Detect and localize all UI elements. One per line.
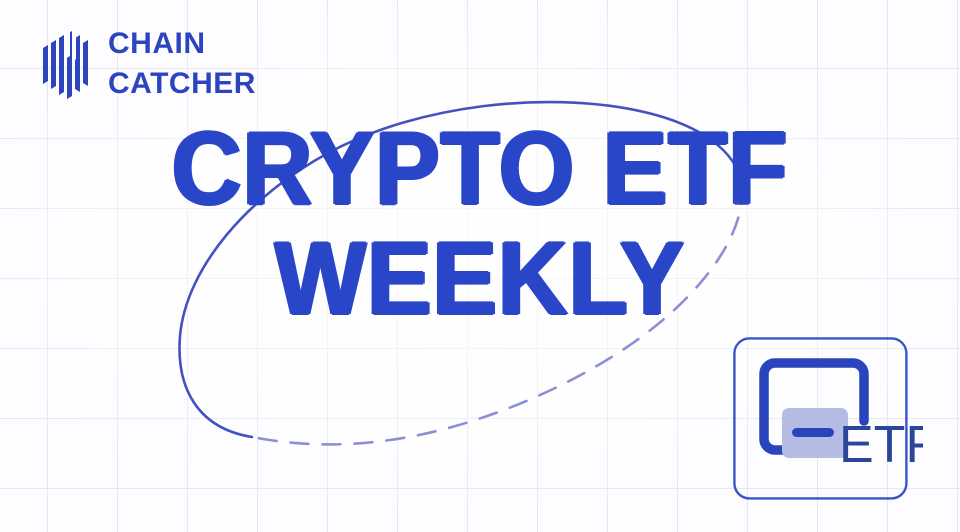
chip-dash-icon	[792, 428, 834, 437]
etf-badge-label: ETF	[839, 416, 923, 474]
brand-line-1: CHAIN	[108, 29, 256, 59]
banner-canvas: CHAIN CATCHER CRYPTO ETF WEEKLY ETF	[0, 0, 960, 532]
chaincatcher-hexagon-bars-logo-icon	[42, 26, 94, 102]
page-title: CRYPTO ETF WEEKLY	[0, 122, 960, 327]
ellipse-dashed-arc	[252, 186, 742, 444]
brand-logo[interactable]: CHAIN CATCHER	[42, 26, 256, 102]
etf-badge: ETF	[733, 337, 923, 500]
headline-line-1: CRYPTO ETF	[34, 122, 927, 218]
brand-wordmark: CHAIN CATCHER	[108, 29, 256, 99]
brand-line-2: CATCHER	[108, 69, 256, 99]
ellipse-solid-arc	[180, 102, 742, 437]
headline-line-2: WEEKLY	[34, 232, 927, 328]
